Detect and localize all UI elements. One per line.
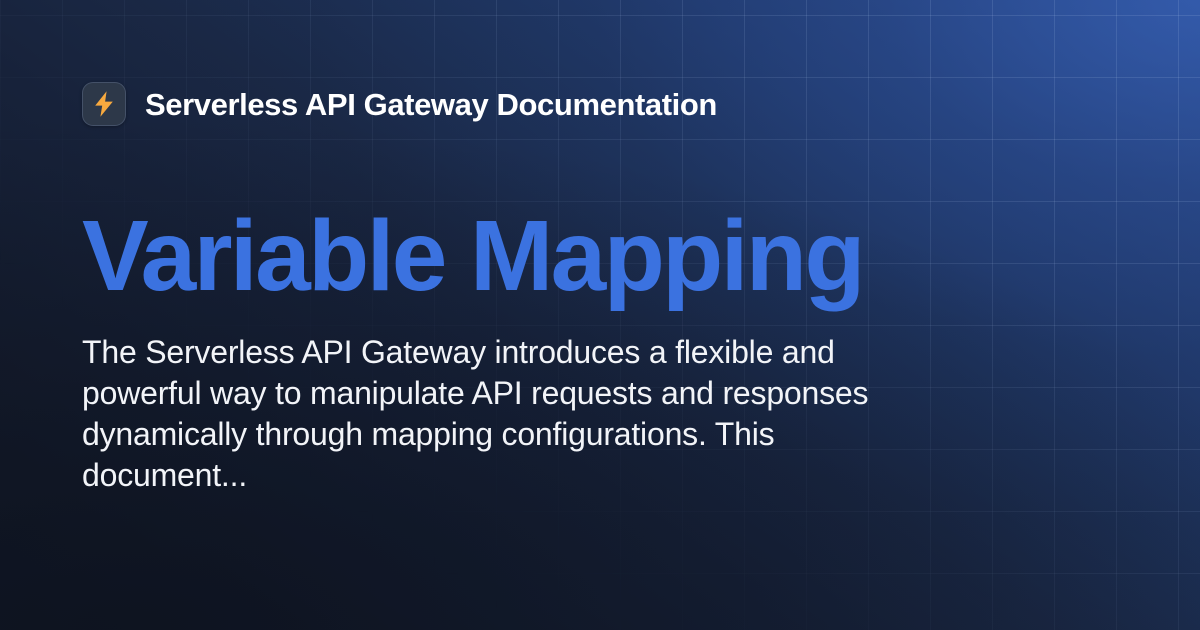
bottom-spacer — [82, 496, 1118, 548]
brand-title: Serverless API Gateway Documentation — [145, 89, 717, 120]
page-description: The Serverless API Gateway introduces a … — [82, 332, 872, 496]
og-card: Serverless API Gateway Documentation Var… — [0, 0, 1200, 630]
layout-spacer — [82, 126, 1118, 206]
page-title: Variable Mapping — [82, 206, 1082, 306]
card-content: Serverless API Gateway Documentation Var… — [0, 0, 1200, 630]
brand-badge — [82, 82, 126, 126]
brand-header: Serverless API Gateway Documentation — [82, 82, 1118, 126]
lightning-bolt-icon — [92, 90, 116, 118]
